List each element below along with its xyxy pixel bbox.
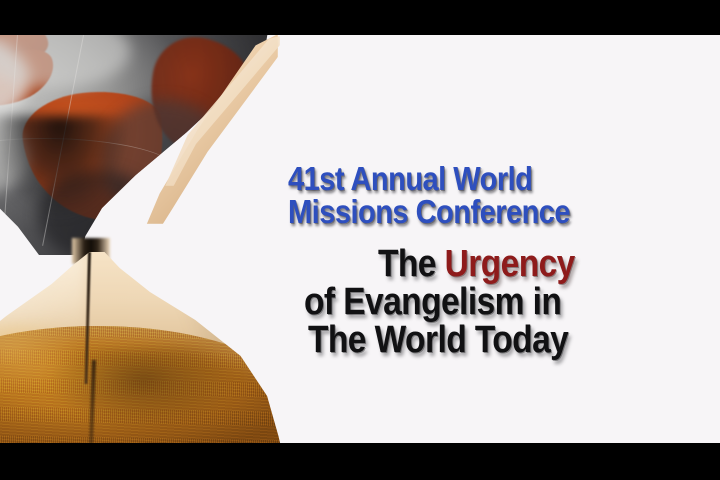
title-text-block: 41st Annual World Missions Conference Th…	[282, 0, 720, 480]
conference-title-line-2: Missions Conference	[288, 193, 570, 231]
letterbox-bar-bottom	[0, 443, 720, 480]
letterbox-bar-top	[0, 0, 720, 35]
hourglass-lower-bulb	[0, 252, 286, 452]
theme-line-3: The World Today	[308, 319, 568, 362]
theme-line-1: The Urgency	[378, 243, 575, 286]
presentation-slide: 41st Annual World Missions Conference Th…	[0, 0, 720, 480]
globe-dissolving-smoke	[0, 116, 150, 255]
sand-shadow	[48, 348, 238, 428]
theme-word-urgency: Urgency	[445, 243, 575, 285]
hourglass-upper-bulb	[0, 20, 270, 255]
hourglass-artwork	[0, 0, 290, 480]
theme-word-the: The	[378, 243, 445, 285]
theme-line-2: of Evangelism in	[304, 281, 561, 324]
